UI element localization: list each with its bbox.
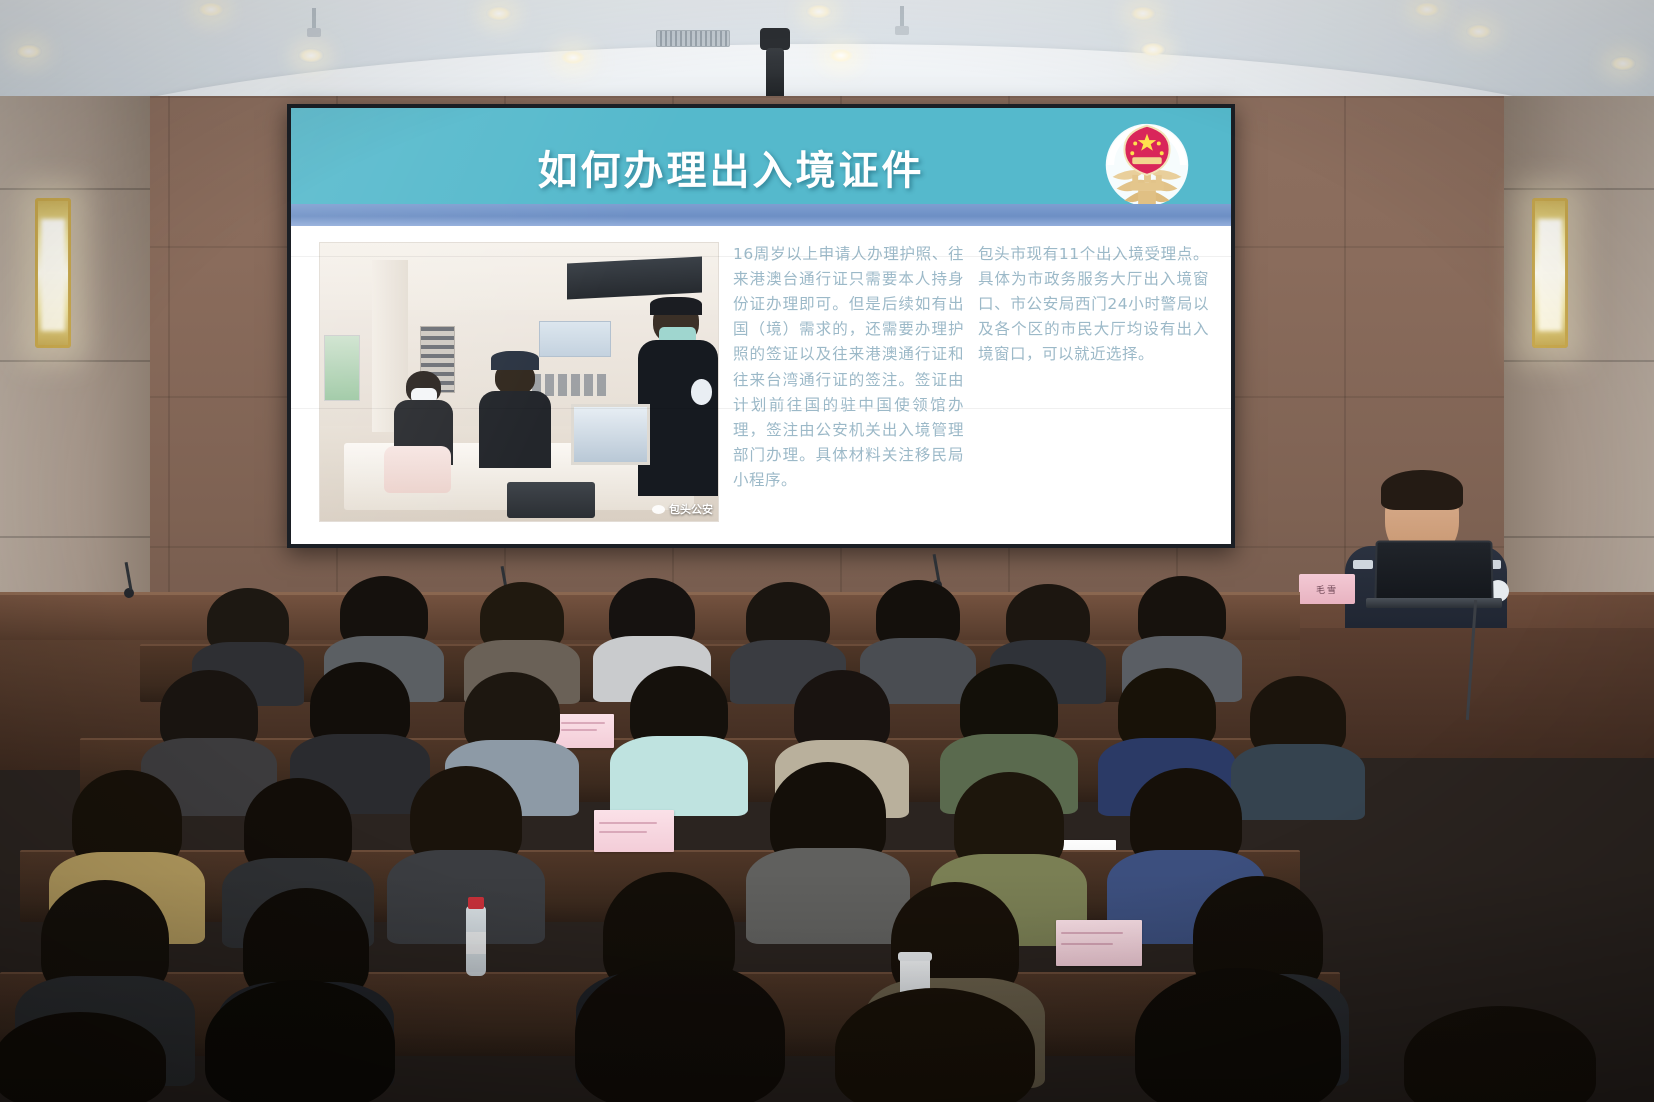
audience — [0, 520, 1654, 1102]
audience-member — [820, 988, 1050, 1102]
downlight — [560, 50, 586, 65]
projection-screen-frame: 如何办理出入境证件 — [287, 104, 1235, 548]
audience-member — [190, 980, 410, 1102]
audience-member — [1390, 1006, 1610, 1102]
downlight — [198, 2, 224, 17]
audience-member — [560, 960, 800, 1102]
audience-member — [400, 766, 532, 930]
slide-photo: 包头公安 — [319, 242, 719, 522]
downlight — [828, 48, 854, 63]
photo-monitor — [571, 404, 651, 465]
handout-pink — [1056, 920, 1142, 966]
watermark-text: 包头公安 — [669, 501, 713, 517]
presentation-slide: 如何办理出入境证件 — [291, 108, 1231, 544]
photo-police-officer — [638, 301, 718, 496]
audience-member — [0, 1012, 180, 1102]
slide-title: 如何办理出入境证件 — [538, 138, 925, 196]
downlight — [1414, 2, 1440, 17]
projection-screen[interactable]: 如何办理出入境证件 — [291, 108, 1231, 544]
slide-body: 包头公安 16周岁以上申请人办理护照、往来港澳台通行证只需要本人持身份证办理即可… — [291, 226, 1231, 544]
photo-watermark: 包头公安 — [652, 501, 713, 517]
downlight — [1610, 56, 1636, 71]
slide-header-band — [291, 204, 1231, 226]
audience-member — [760, 762, 896, 932]
audience-member — [1240, 676, 1356, 808]
downlight — [486, 6, 512, 21]
ceiling-sprinkler — [900, 6, 904, 28]
slide-text-column-1: 16周岁以上申请人办理护照、往来港澳台通行证只需要本人持身份证办理即可。但是后续… — [733, 242, 964, 532]
photo-printer — [507, 482, 595, 518]
photo-applicant-man — [479, 351, 551, 468]
lecture-hall-photo: 如何办理出入境证件 — [0, 0, 1654, 1102]
wall-sconce-left — [35, 198, 71, 348]
downlight — [1466, 24, 1492, 39]
slide-header: 如何办理出入境证件 — [291, 108, 1231, 226]
downlight — [298, 48, 324, 63]
downlight — [16, 44, 42, 59]
ceiling-vent — [656, 30, 730, 47]
audience-member — [620, 666, 738, 806]
photo-poster — [324, 335, 360, 402]
downlight — [1130, 6, 1156, 21]
photo-handbag — [384, 446, 452, 493]
downlight — [1140, 42, 1166, 57]
downlight — [806, 4, 832, 19]
ceiling-sprinkler — [312, 8, 316, 30]
handout-pink — [594, 810, 674, 852]
wall-sconce-right — [1532, 198, 1568, 348]
projector-camera-icon — [760, 28, 790, 50]
audience-member — [1120, 968, 1356, 1102]
water-bottle — [466, 906, 486, 976]
watermark-logo-icon — [652, 505, 665, 514]
slide-text-column-2: 包头市现有11个出入境受理点。具体为市政务服务大厅出入境窗口、市公安局西门24小… — [978, 242, 1209, 532]
